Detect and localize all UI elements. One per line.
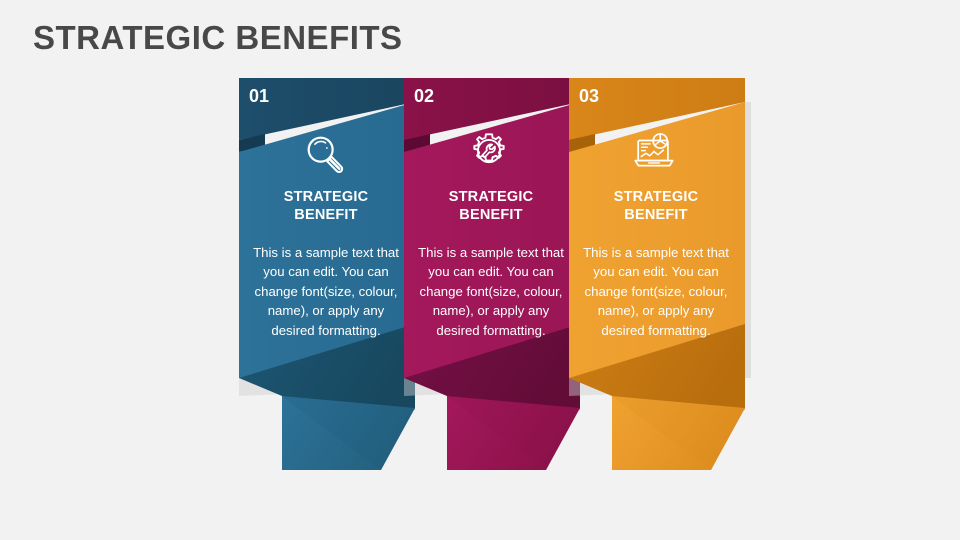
slide-canvas: STRATEGIC BENEFITS xyxy=(0,0,960,540)
banner-shape-3 xyxy=(559,78,781,508)
page-title: STRATEGIC BENEFITS xyxy=(33,19,403,57)
banner-card-3[interactable]: 03 STRATEGIC xyxy=(559,78,781,508)
